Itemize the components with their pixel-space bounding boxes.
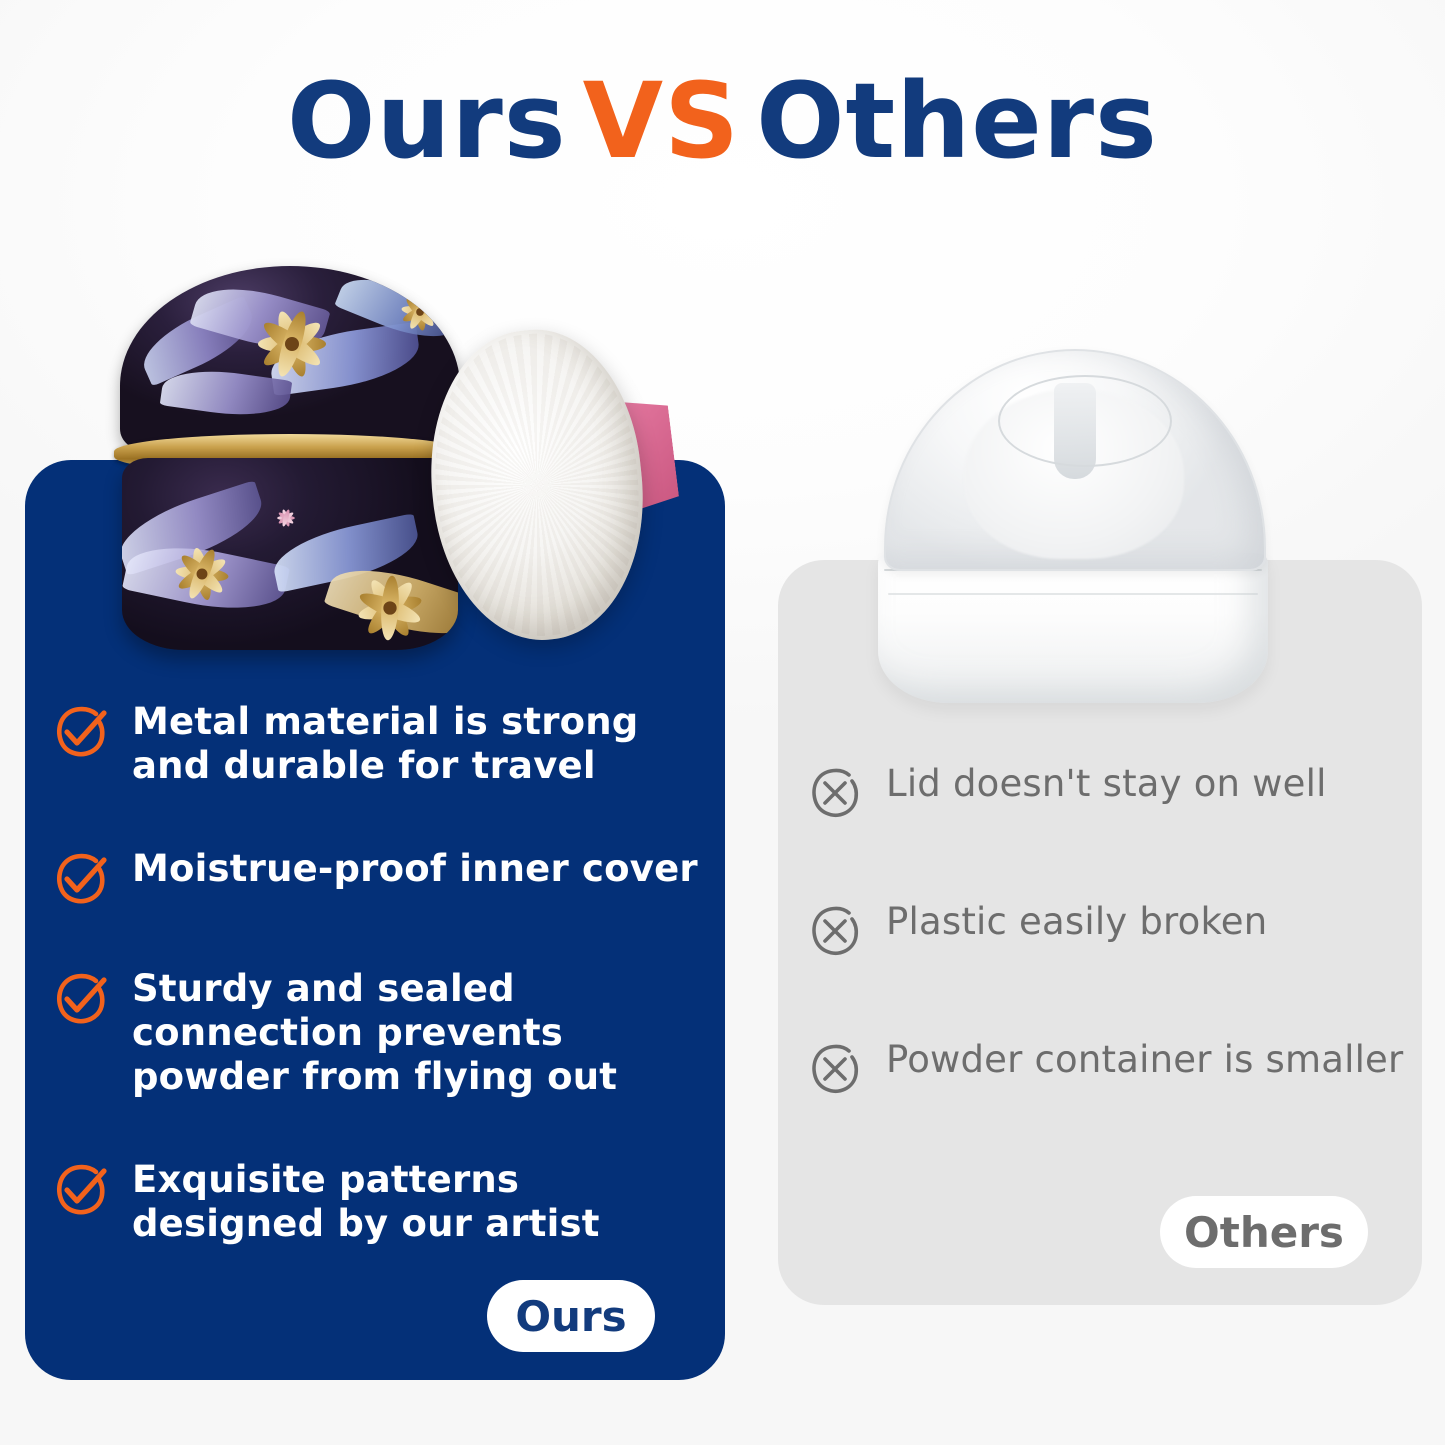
check-circle-icon: [52, 702, 110, 760]
x-circle-icon: [806, 1040, 864, 1098]
list-item-label: Powder container is smaller: [886, 1038, 1403, 1082]
check-circle-icon: [52, 969, 110, 1027]
comparison-infographic: OursVSOthers: [0, 0, 1445, 1445]
list-item-label: Lid doesn't stay on well: [886, 762, 1327, 806]
others-badge: Others: [1160, 1196, 1368, 1268]
list-item-label: Exquisite patterns designed by our artis…: [132, 1158, 712, 1245]
page-title: OursVSOthers: [0, 62, 1445, 182]
plastic-jar-body: [878, 553, 1268, 703]
list-item: Powder container is smaller: [806, 1038, 1406, 1098]
list-item: Plastic easily broken: [806, 900, 1406, 960]
list-item: Moistrue-proof inner cover: [52, 847, 712, 907]
jar-base: [122, 458, 458, 650]
list-item-label: Moistrue-proof inner cover: [132, 847, 698, 891]
list-item: Metal material is strong and durable for…: [52, 700, 712, 787]
list-item-label: Sturdy and sealed connection prevents po…: [132, 967, 712, 1098]
ours-feature-list: Metal material is strong and durable for…: [52, 700, 712, 1246]
list-item-label: Plastic easily broken: [886, 900, 1267, 944]
list-item: Sturdy and sealed connection prevents po…: [52, 967, 712, 1098]
x-circle-icon: [806, 902, 864, 960]
x-circle-icon: [806, 764, 864, 822]
check-circle-icon: [52, 1160, 110, 1218]
check-circle-icon: [52, 849, 110, 907]
title-others: Others: [756, 60, 1158, 182]
list-item: Lid doesn't stay on well: [806, 762, 1406, 822]
list-item-label: Metal material is strong and durable for…: [132, 700, 712, 787]
dome-ring: [998, 375, 1172, 467]
list-item: Exquisite patterns designed by our artis…: [52, 1158, 712, 1245]
others-feature-list: Lid doesn't stay on well Plastic easily …: [806, 762, 1406, 1098]
title-vs: VS: [567, 60, 756, 182]
title-ours: Ours: [287, 60, 567, 182]
clear-dome-lid: [884, 349, 1266, 571]
jar-lid: [120, 266, 460, 451]
ours-badge: Ours: [487, 1280, 655, 1352]
ours-product-image: [100, 250, 700, 680]
others-product-image: [842, 345, 1302, 705]
